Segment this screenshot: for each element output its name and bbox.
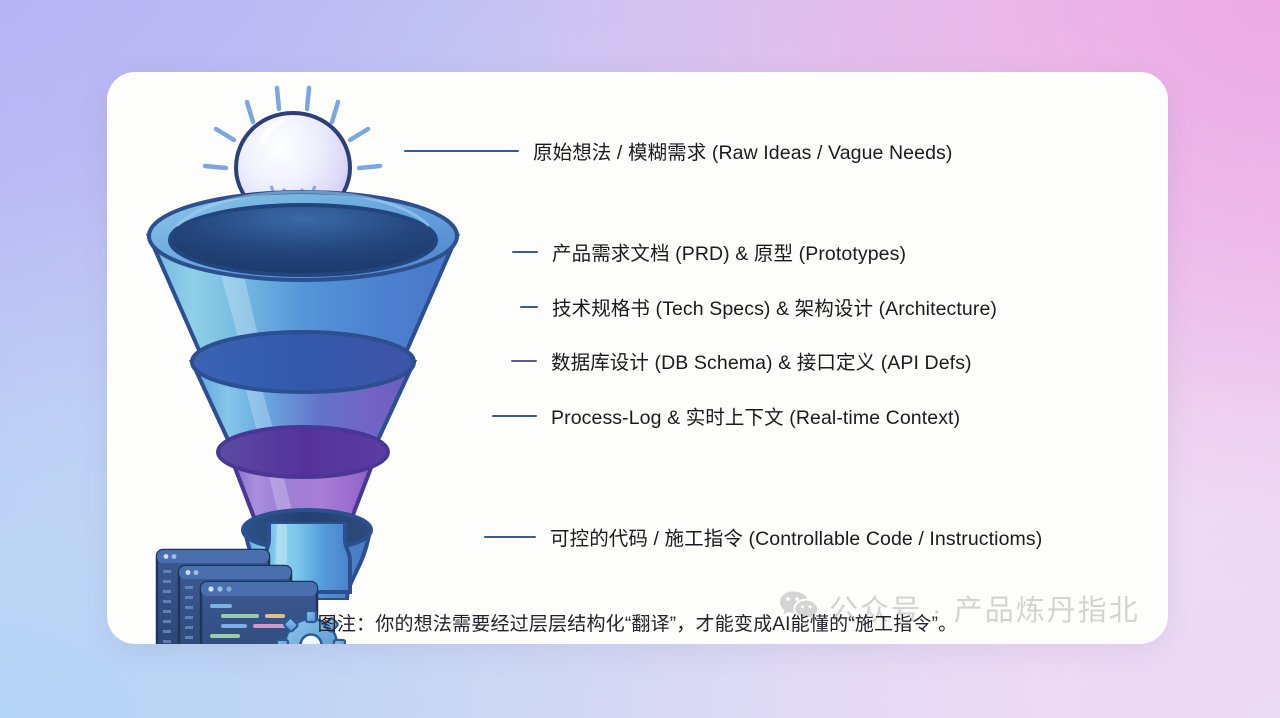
diagram-caption: 图注：你的想法需要经过层层结构化“翻译”，才能变成AI能懂的“施工指令”。: [107, 609, 1168, 636]
leader-line: [512, 251, 538, 253]
diagram-card: 原始想法 / 模糊需求 (Raw Ideas / Vague Needs) 产品…: [107, 72, 1168, 644]
leader-line: [492, 415, 537, 417]
leader-line: [484, 536, 536, 538]
funnel-label-tech-specs: 技术规格书 (Tech Specs) & 架构设计 (Architecture): [520, 292, 997, 321]
leader-line: [511, 360, 537, 362]
funnel-label-prd: 产品需求文档 (PRD) & 原型 (Prototypes): [512, 237, 906, 266]
funnel-label-process-log: Process-Log & 实时上下文 (Real-time Context): [492, 401, 960, 430]
funnel-stage-raw-ideas: [149, 192, 457, 350]
funnel-label-controllable-code: 可控的代码 / 施工指令 (Controllable Code / Instru…: [484, 522, 1042, 551]
funnel-label-text: Process-Log & 实时上下文 (Real-time Context): [551, 401, 960, 430]
funnel-label-text: 可控的代码 / 施工指令 (Controllable Code / Instru…: [550, 522, 1042, 551]
funnel-label-text: 技术规格书 (Tech Specs) & 架构设计 (Architecture): [552, 292, 997, 321]
funnel-stage-db-schema: [218, 427, 388, 520]
funnel-label-text: 原始想法 / 模糊需求 (Raw Ideas / Vague Needs): [533, 136, 952, 165]
funnel-label-text: 数据库设计 (DB Schema) & 接口定义 (API Defs): [551, 346, 972, 375]
leader-line: [520, 306, 538, 308]
funnel-label-db-schema: 数据库设计 (DB Schema) & 接口定义 (API Defs): [511, 346, 972, 375]
screenshot-stage: 原始想法 / 模糊需求 (Raw Ideas / Vague Needs) 产品…: [0, 0, 1280, 718]
leader-line: [404, 150, 519, 152]
funnel-label-raw-ideas: 原始想法 / 模糊需求 (Raw Ideas / Vague Needs): [404, 136, 952, 165]
funnel-label-text: 产品需求文档 (PRD) & 原型 (Prototypes): [552, 237, 906, 266]
